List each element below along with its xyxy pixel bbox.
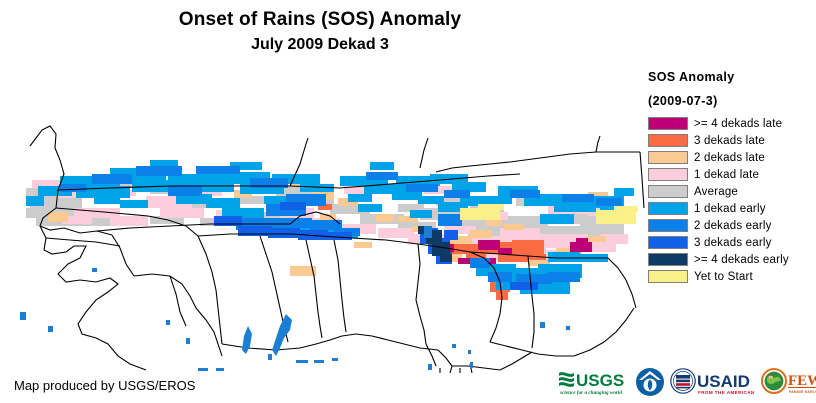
legend-label: 1 dekad early: [694, 203, 766, 215]
legend-item: 1 dekad late: [648, 166, 816, 183]
legend-swatch-1-early: [648, 202, 688, 215]
legend-label: 2 dekads late: [694, 152, 765, 164]
legend-swatch-1-late: [648, 168, 688, 181]
legend-swatch-3-early: [648, 236, 688, 249]
legend-date: (2009-07-3): [648, 94, 816, 108]
legend-swatch-4plus-late: [648, 117, 688, 130]
legend-item: 2 dekads late: [648, 149, 816, 166]
map-credit: Map produced by USGS/EROS: [14, 378, 195, 393]
legend-item: Yet to Start: [648, 268, 816, 285]
legend-item: 2 dekads early: [648, 217, 816, 234]
map-canvas: [0, 68, 645, 373]
legend-item: 3 dekads late: [648, 132, 816, 149]
legend-swatch-3-late: [648, 134, 688, 147]
page-title: Onset of Rains (SOS) Anomaly: [0, 8, 640, 32]
usaid-seal: [671, 369, 695, 393]
usgs-tagline: science for a changing world: [559, 390, 622, 396]
legend-swatch-2-late: [648, 151, 688, 164]
noaa-logo: [635, 367, 665, 397]
legend-label: Yet to Start: [694, 271, 753, 283]
legend-swatch-4plus-early: [648, 253, 688, 266]
legend-swatch-2-early: [648, 219, 688, 232]
page-subtitle: July 2009 Dekad 3: [0, 34, 640, 56]
legend-item: 3 dekads early: [648, 234, 816, 251]
usaid-tagline: FROM THE AMERICAN PEOPLE: [698, 390, 756, 395]
legend-heading: SOS Anomaly: [648, 70, 816, 84]
legend-label: >= 4 dekads early: [694, 254, 789, 266]
legend-swatch-yet-to-start: [648, 270, 688, 283]
fewsnet-logo: FN FEWS NET FAMINE EARLY WARNING SYSTEMS…: [761, 367, 816, 397]
africa-sahel-map: [0, 68, 645, 373]
legend-label: >= 4 dekads late: [694, 118, 782, 130]
usgs-wordmark: USGS: [576, 371, 624, 390]
legend-label: 1 dekad late: [694, 169, 759, 181]
legend-label: 3 dekads late: [694, 135, 765, 147]
usgs-wave-mark: [559, 372, 574, 387]
fewsnet-wordmark: FEWS NET: [788, 373, 816, 389]
logo-bar: USGS science for a changing world USAID …: [558, 364, 814, 400]
legend-item: >= 4 dekads late: [648, 115, 816, 132]
fewsnet-globe-icon: FN: [762, 369, 786, 393]
legend-label: 2 dekads early: [694, 220, 772, 232]
usaid-wordmark: USAID: [697, 372, 750, 391]
legend-swatch-average: [648, 185, 688, 198]
usgs-logo: USGS science for a changing world: [558, 367, 630, 397]
fewsnet-globe-mark: FN: [769, 375, 774, 379]
title-block: Onset of Rains (SOS) Anomaly July 2009 D…: [0, 8, 640, 56]
legend: SOS Anomaly (2009-07-3) >= 4 dekads late…: [648, 70, 816, 285]
legend-item: 1 dekad early: [648, 200, 816, 217]
legend-label: Average: [694, 186, 738, 198]
fewsnet-tagline: FAMINE EARLY WARNING SYSTEMS NETWORK: [789, 390, 816, 394]
legend-item: >= 4 dekads early: [648, 251, 816, 268]
map-page: Onset of Rains (SOS) Anomaly July 2009 D…: [0, 0, 816, 403]
legend-item: Average: [648, 183, 816, 200]
usaid-logo: USAID FROM THE AMERICAN PEOPLE: [670, 367, 756, 397]
legend-label: 3 dekads early: [694, 237, 772, 249]
